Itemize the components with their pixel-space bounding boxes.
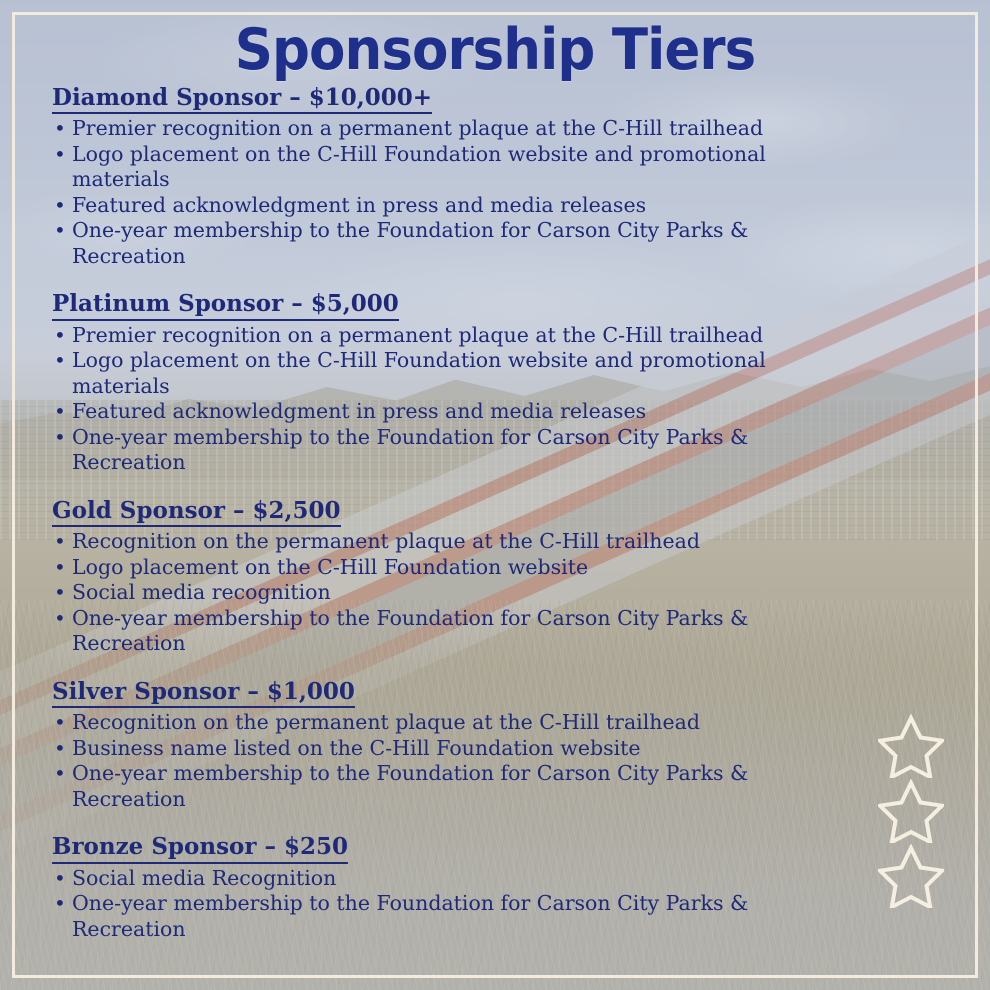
tier-benefit-item: Logo placement on the C-Hill Foundation … bbox=[52, 555, 862, 581]
tier-section-diamond: Diamond Sponsor – $10,000+Premier recogn… bbox=[0, 85, 990, 269]
tier-spacer bbox=[0, 812, 990, 834]
tier-benefit-list-bronze: Social media RecognitionOne-year members… bbox=[0, 866, 990, 943]
tier-benefit-item: Logo placement on the C-Hill Foundation … bbox=[52, 348, 862, 399]
tier-benefit-item: Featured acknowledgment in press and med… bbox=[52, 193, 862, 219]
tier-heading-bronze: Bronze Sponsor – $250 bbox=[52, 834, 348, 863]
tier-benefit-list-diamond: Premier recognition on a permanent plaqu… bbox=[0, 116, 990, 269]
tier-benefit-item: Social media Recognition bbox=[52, 866, 862, 892]
poster-content: Sponsorship Tiers Diamond Sponsor – $10,… bbox=[0, 0, 990, 942]
tier-heading-silver: Silver Sponsor – $1,000 bbox=[52, 679, 355, 708]
tier-heading-platinum: Platinum Sponsor – $5,000 bbox=[52, 291, 399, 320]
tier-benefit-item: Premier recognition on a permanent plaqu… bbox=[52, 323, 862, 349]
tier-section-platinum: Platinum Sponsor – $5,000Premier recogni… bbox=[0, 291, 990, 475]
tier-heading-diamond: Diamond Sponsor – $10,000+ bbox=[52, 85, 432, 114]
tier-benefit-item: Social media recognition bbox=[52, 580, 862, 606]
tier-spacer bbox=[0, 269, 990, 291]
tier-benefit-item: Business name listed on the C-Hill Found… bbox=[52, 736, 862, 762]
sponsorship-tiers-poster: Sponsorship Tiers Diamond Sponsor – $10,… bbox=[0, 0, 990, 990]
tier-section-bronze: Bronze Sponsor – $250Social media Recogn… bbox=[0, 834, 990, 942]
tier-benefit-item: Logo placement on the C-Hill Foundation … bbox=[52, 142, 862, 193]
tier-benefit-item: Recognition on the permanent plaque at t… bbox=[52, 529, 862, 555]
tier-spacer bbox=[0, 476, 990, 498]
tier-benefit-item: One-year membership to the Foundation fo… bbox=[52, 606, 862, 657]
tier-benefit-item: Featured acknowledgment in press and med… bbox=[52, 399, 862, 425]
tier-benefit-item: Recognition on the permanent plaque at t… bbox=[52, 710, 862, 736]
tier-section-silver: Silver Sponsor – $1,000Recognition on th… bbox=[0, 679, 990, 812]
tier-benefit-list-platinum: Premier recognition on a permanent plaqu… bbox=[0, 323, 990, 476]
tier-benefit-item: One-year membership to the Foundation fo… bbox=[52, 761, 862, 812]
sponsorship-tier-list: Diamond Sponsor – $10,000+Premier recogn… bbox=[0, 85, 990, 942]
tier-benefit-list-silver: Recognition on the permanent plaque at t… bbox=[0, 710, 990, 812]
tier-benefit-item: One-year membership to the Foundation fo… bbox=[52, 425, 862, 476]
tier-benefit-item: One-year membership to the Foundation fo… bbox=[52, 891, 862, 942]
page-title: Sponsorship Tiers bbox=[35, 0, 956, 79]
tier-benefit-list-gold: Recognition on the permanent plaque at t… bbox=[0, 529, 990, 657]
tier-benefit-item: One-year membership to the Foundation fo… bbox=[52, 218, 862, 269]
tier-spacer bbox=[0, 657, 990, 679]
tier-section-gold: Gold Sponsor – $2,500Recognition on the … bbox=[0, 498, 990, 657]
tier-heading-gold: Gold Sponsor – $2,500 bbox=[52, 498, 341, 527]
tier-benefit-item: Premier recognition on a permanent plaqu… bbox=[52, 116, 862, 142]
